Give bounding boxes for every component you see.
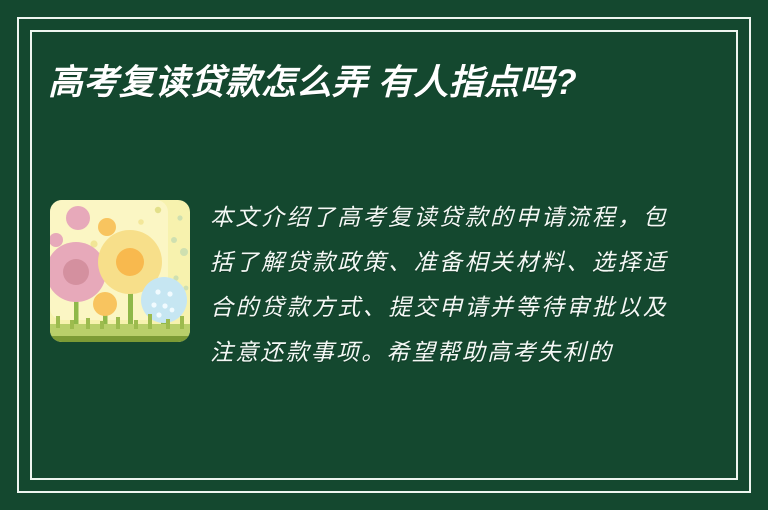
page-title: 高考复读贷款怎么弄 有人指点吗? (48, 58, 648, 108)
flower-garden-illustration (48, 196, 192, 356)
content-row: 本文介绍了高考复读贷款的申请流程，包括了解贷款政策、准备相关材料、选择适合的贷款… (48, 196, 668, 376)
article-summary-text: 本文介绍了高考复读贷款的申请流程，包括了解贷款政策、准备相关材料、选择适合的贷款… (210, 196, 668, 376)
poster-canvas: 高考复读贷款怎么弄 有人指点吗? (0, 0, 768, 510)
